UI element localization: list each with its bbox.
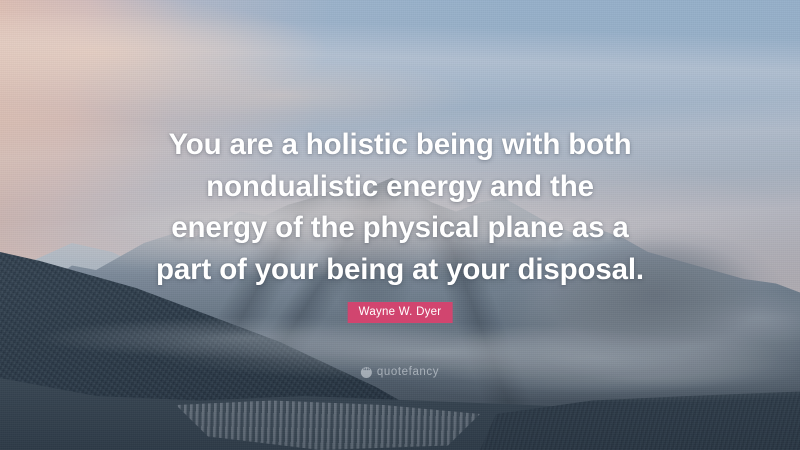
quote-line-1: You are a holistic being with both [70,124,730,166]
quote-line-4: part of your being at your disposal. [70,249,730,291]
watermark-label: quotefancy [377,366,439,378]
quote-line-3: energy of the physical plane as a [70,207,730,249]
quote-poster: You are a holistic being with both nondu… [0,0,800,450]
quotefancy-watermark[interactable]: ““ quotefancy [361,366,439,378]
quote-text: You are a holistic being with both nondu… [0,124,800,290]
quote-mark-icon: ““ [361,367,372,378]
quote-line-2: nondualistic energy and the [70,166,730,208]
poster-content: You are a holistic being with both nondu… [0,0,800,450]
author-badge: Wayne W. Dyer [348,302,453,323]
quote-mark-glyph: ““ [363,368,370,376]
